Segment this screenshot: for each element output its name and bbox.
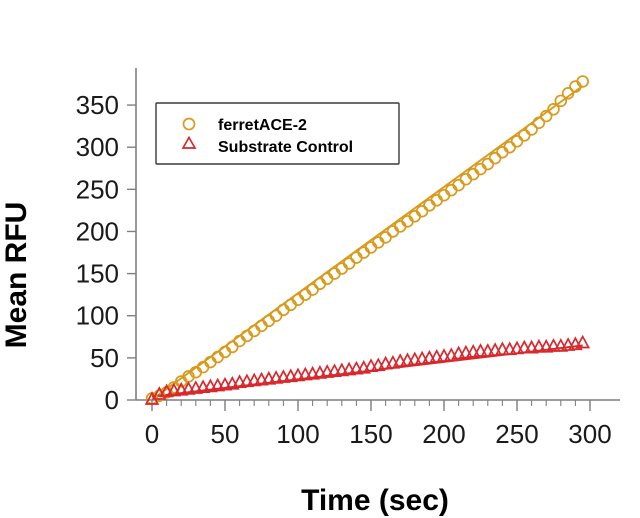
legend-label-substrate-control: Substrate Control — [218, 139, 353, 156]
x-tick-label: 250 — [495, 419, 538, 449]
x-tick-label: 150 — [349, 419, 392, 449]
y-tick-label: 350 — [76, 90, 119, 120]
x-tick-label: 200 — [422, 419, 465, 449]
y-tick-label: 250 — [76, 174, 119, 204]
y-tick-label: 50 — [90, 343, 119, 373]
legend-label-ferretace2: ferretACE-2 — [218, 117, 307, 134]
chart-legend: ferretACE-2 Substrate Control — [156, 103, 399, 164]
y-tick-label: 100 — [76, 301, 119, 331]
x-tick-label: 0 — [145, 419, 159, 449]
x-tick-label: 100 — [276, 419, 319, 449]
x-axis-title: Time (sec) — [301, 484, 449, 517]
chart-container: Mean RFU Time (sec) 05010015020025030035… — [0, 0, 640, 518]
y-tick-label: 300 — [76, 132, 119, 162]
y-tick-label: 200 — [76, 216, 119, 246]
x-tick-label: 50 — [211, 419, 240, 449]
y-tick-label: 150 — [76, 259, 119, 289]
y-tick-label: 0 — [105, 385, 119, 415]
x-tick-label: 300 — [568, 419, 611, 449]
kinetics-scatter-chart: Mean RFU Time (sec) 05010015020025030035… — [0, 0, 640, 518]
y-axis-title: Mean RFU — [0, 202, 33, 349]
